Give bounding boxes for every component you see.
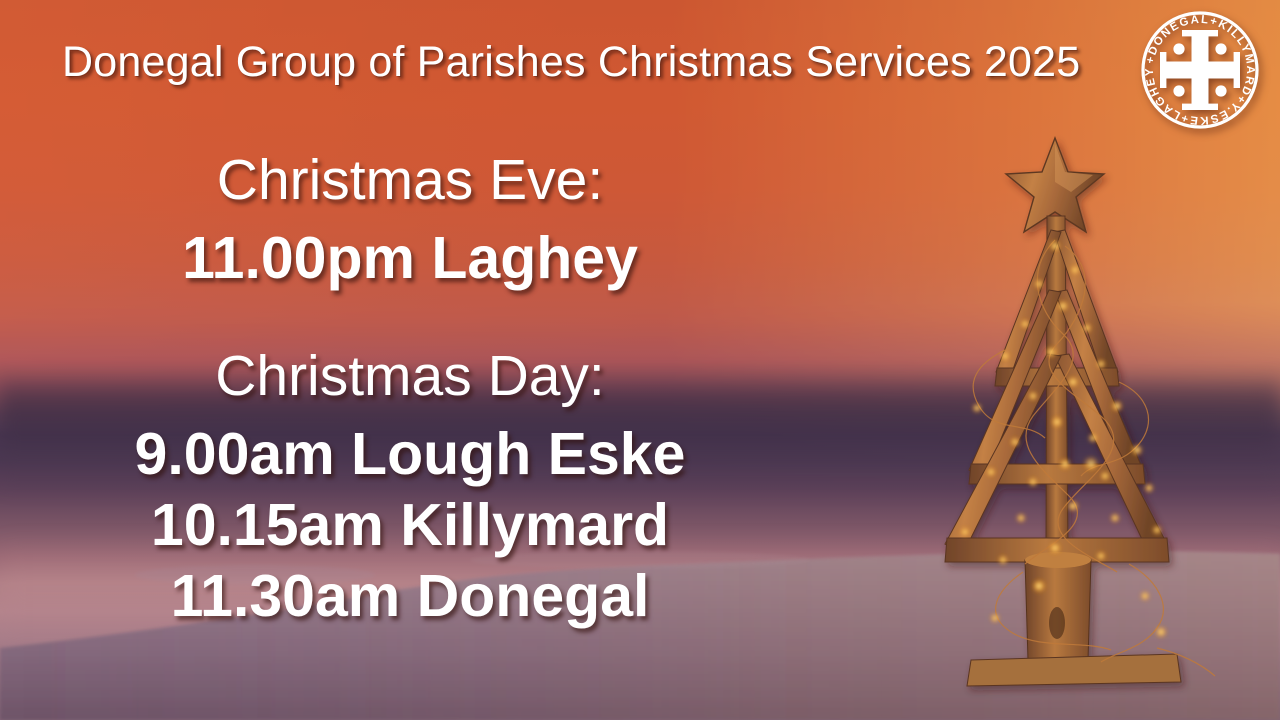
service-christmas-day-lough-eske: 9.00am Lough Eske <box>0 425 820 484</box>
driftwood-christmas-tree <box>905 120 1235 680</box>
service-christmas-day-donegal: 11.30am Donegal <box>0 567 820 626</box>
services-list: Christmas Eve: 11.00pm Laghey Christmas … <box>0 152 820 626</box>
parish-logo: +DONEGAL+KILLYMARD+Y.ESKE+LAGHEY <box>1134 4 1266 136</box>
christmas-services-slide: Donegal Group of Parishes Christmas Serv… <box>0 0 1280 720</box>
service-christmas-eve-laghey: 11.00pm Laghey <box>0 229 820 288</box>
christmas-day-heading: Christmas Day: <box>0 348 820 405</box>
jerusalem-cross-icon <box>1160 30 1240 110</box>
christmas-eve-heading: Christmas Eve: <box>0 152 820 209</box>
page-title: Donegal Group of Parishes Christmas Serv… <box>62 38 1080 87</box>
wooden-plank <box>967 654 1181 686</box>
service-christmas-day-killymard: 10.15am Killymard <box>0 496 820 555</box>
